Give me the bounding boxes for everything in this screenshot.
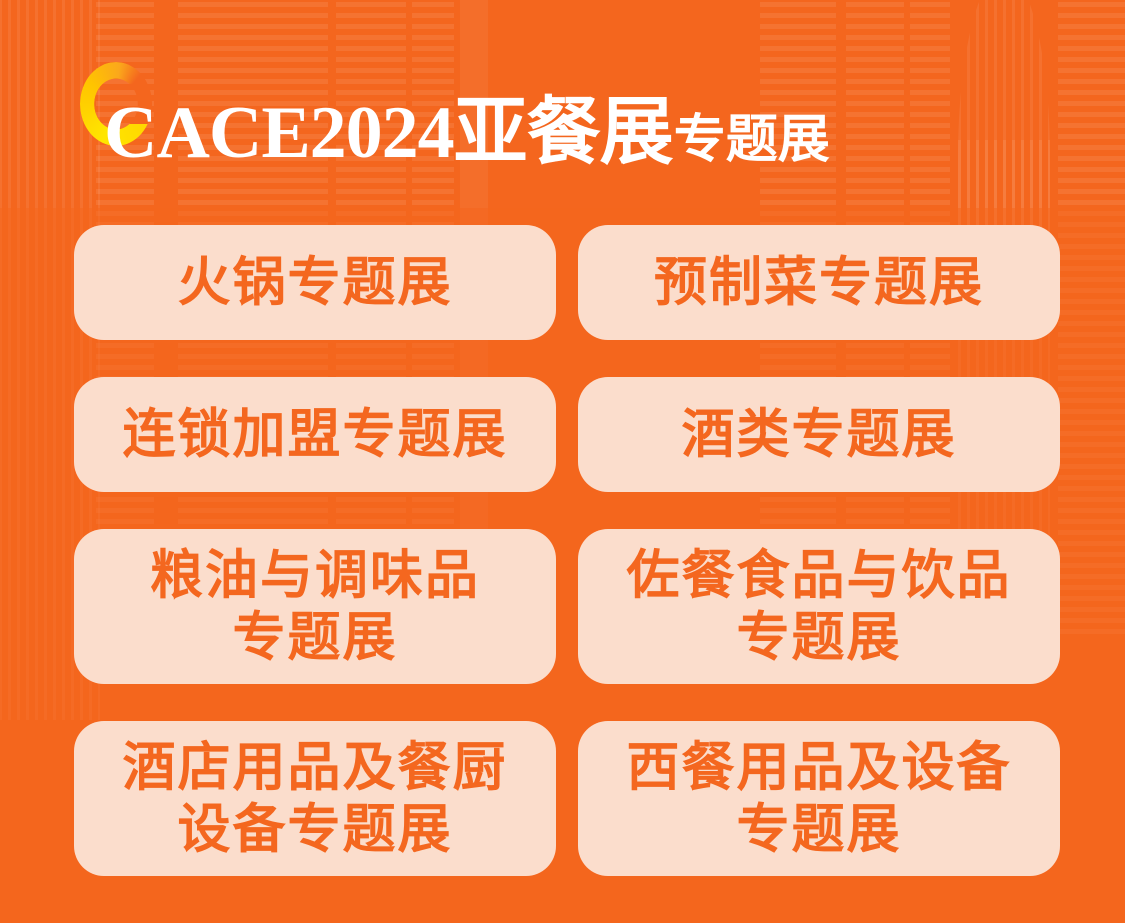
title-sub-text: 专题展 [674, 116, 830, 165]
card-line: 预制菜专题展 [654, 252, 984, 313]
exhibition-card-hotpot[interactable]: 火锅专题展 [74, 225, 556, 340]
card-line: 设备专题展 [123, 799, 508, 860]
card-line: 专题展 [627, 799, 1012, 860]
card-line: 酒店用品及餐厨 [123, 737, 508, 798]
card-line: 酒类专题展 [682, 404, 957, 465]
card-line: 专题展 [627, 607, 1012, 668]
exhibition-card-franchise[interactable]: 连锁加盟专题展 [74, 377, 556, 492]
card-line: 西餐用品及设备 [627, 737, 1012, 798]
card-line: 火锅专题展 [178, 252, 453, 313]
card-line: 专题展 [150, 607, 480, 668]
exhibition-card-western-supplies-equipment[interactable]: 西餐用品及设备 专题展 [578, 721, 1060, 876]
poster-header: CACE2024亚餐展 专题展 [74, 58, 830, 168]
exhibition-poster: CACE2024亚餐展 专题展 火锅专题展 预制菜专题展 连锁加盟专题展 酒类专… [0, 0, 1125, 923]
page-title: CACE2024亚餐展 专题展 [104, 98, 830, 168]
title-main-text: CACE2024亚餐展 [104, 98, 673, 168]
exhibition-card-grain-oil-seasoning[interactable]: 粮油与调味品 专题展 [74, 529, 556, 684]
exhibition-card-prepared-dishes[interactable]: 预制菜专题展 [578, 225, 1060, 340]
exhibition-card-hotel-kitchen-equipment[interactable]: 酒店用品及餐厨 设备专题展 [74, 721, 556, 876]
exhibition-card-side-food-beverage[interactable]: 佐餐食品与饮品 专题展 [578, 529, 1060, 684]
card-line: 佐餐食品与饮品 [627, 545, 1012, 606]
card-line: 粮油与调味品 [150, 545, 480, 606]
exhibition-card-grid: 火锅专题展 预制菜专题展 连锁加盟专题展 酒类专题展 粮油与调味品 专题展 佐餐… [74, 225, 1060, 876]
exhibition-card-liquor[interactable]: 酒类专题展 [578, 377, 1060, 492]
card-line: 连锁加盟专题展 [123, 404, 508, 465]
building-silhouette [1058, 0, 1125, 640]
